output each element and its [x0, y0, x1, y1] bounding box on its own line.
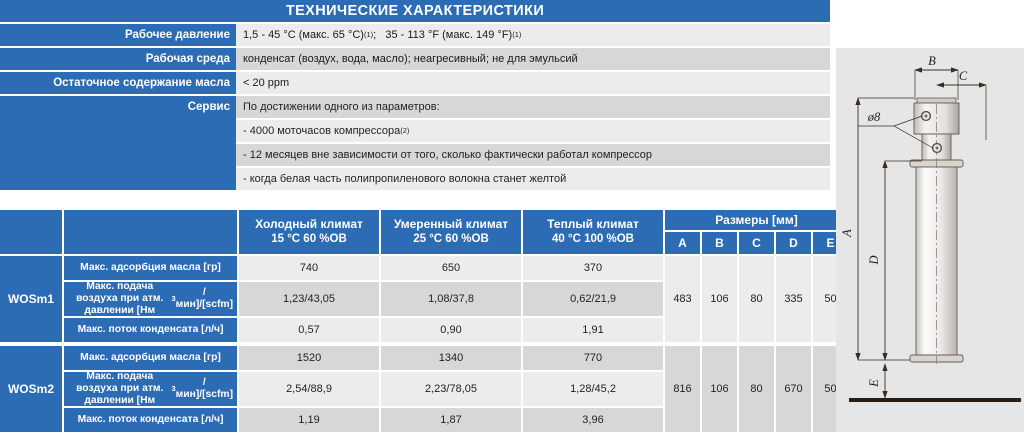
spec-row: Рабочая среда конденсат (воздух, вода, м…	[0, 48, 830, 70]
value-cell: 0,90	[381, 318, 521, 342]
service-line: - когда белая часть полипропиленового во…	[236, 168, 830, 190]
value-cell: 770	[523, 346, 663, 370]
spec-label-service: Сервис	[0, 96, 236, 118]
value-cell: 1,08/37,8	[381, 282, 521, 316]
spec-value-operating-pressure: 1,5 - 45 °C (макс. 65 °C)(1); 35 - 113 °…	[236, 24, 830, 46]
header-dimensions-group: Размеры [мм] A B C D E	[665, 210, 848, 254]
header-corner-blank	[0, 210, 62, 254]
value-cell: 2,54/88,9	[239, 372, 379, 406]
service-block: Сервис По достижении одного из параметро…	[0, 96, 830, 190]
dim-value-b: 106	[702, 346, 737, 432]
header-dim-b: B	[702, 232, 737, 254]
value-cell: 1,91	[523, 318, 663, 342]
spec-label-residual-oil: Остаточное содержание масла	[0, 72, 236, 94]
header-climate-cold-line2: 15 °C 60 %ОВ	[271, 232, 347, 246]
model-label-wosm1: WOSm1	[0, 256, 62, 342]
param-label: Макс. подача воздуха при атм.давлении [Н…	[64, 372, 237, 406]
data-table: Холодный климат 15 °C 60 %ОВ Умеренный к…	[0, 210, 838, 436]
dim-value-d: 670	[776, 346, 811, 432]
table-row: Макс. адсорбция масла [гр] 740 650 370	[64, 256, 663, 280]
group-body-wosm2: Макс. адсорбция масла [гр] 1520 1340 770…	[64, 346, 663, 434]
technical-specification-sheet: ТЕХНИЧЕСКИЕ ХАРАКТЕРИСТИКИ Рабочее давле…	[0, 0, 1024, 432]
value-cell: 1,28/45,2	[523, 372, 663, 406]
header-climate-warm-line2: 40 °C 100 %ОВ	[552, 232, 634, 246]
value-cell: 650	[381, 256, 521, 280]
dim-label-d: D	[867, 255, 881, 265]
header-dim-d: D	[776, 232, 811, 254]
value-cell: 0,62/21,9	[523, 282, 663, 316]
param-label: Макс. поток конденсата [л/ч]	[64, 318, 237, 342]
dim-label-e: E	[867, 379, 881, 388]
dim-value-b: 106	[702, 256, 737, 342]
model-label-wosm2: WOSm2	[0, 346, 62, 432]
param-label: Макс. подача воздуха при атм.давлении [Н…	[64, 282, 237, 316]
table-header-row: Холодный климат 15 °C 60 %ОВ Умеренный к…	[0, 210, 838, 254]
dim-value-a: 816	[665, 346, 700, 432]
spec-label-working-medium: Рабочая среда	[0, 48, 236, 70]
group-body-wosm1: Макс. адсорбция масла [гр] 740 650 370 М…	[64, 256, 663, 344]
spec-value-working-medium: конденсат (воздух, вода, масло); неагрес…	[236, 48, 830, 70]
technical-drawing-panel: B C A D E ø8	[836, 48, 1024, 432]
value-cell: 1340	[381, 346, 521, 370]
spec-value-residual-oil: < 20 ppm	[236, 72, 830, 94]
table-group: WOSm2 Макс. адсорбция масла [гр] 1520 13…	[0, 346, 838, 434]
dim-label-a: A	[840, 229, 854, 238]
value-cell: 1,19	[239, 408, 379, 432]
specifications-block: Рабочее давление 1,5 - 45 °C (макс. 65 °…	[0, 24, 830, 192]
value-cell: 0,57	[239, 318, 379, 342]
spec-label-operating-pressure: Рабочее давление	[0, 24, 236, 46]
header-dim-a: A	[665, 232, 700, 254]
spec-row: Рабочее давление 1,5 - 45 °C (макс. 65 °…	[0, 24, 830, 46]
value-cell: 2,23/78,05	[381, 372, 521, 406]
product-body	[849, 98, 1021, 402]
param-label: Макс. поток конденсата [л/ч]	[64, 408, 237, 432]
dim-value-d: 335	[776, 256, 811, 342]
header-climate-warm: Теплый климат 40 °C 100 %ОВ	[523, 210, 663, 254]
value-cell: 740	[239, 256, 379, 280]
value-cell: 370	[523, 256, 663, 280]
table-group: WOSm1 Макс. адсорбция масла [гр] 740 650…	[0, 256, 838, 344]
page-title: ТЕХНИЧЕСКИЕ ХАРАКТЕРИСТИКИ	[0, 0, 830, 22]
table-row: Макс. поток конденсата [л/ч] 1,19 1,87 3…	[64, 408, 663, 432]
value-cell: 1,23/43,05	[239, 282, 379, 316]
value-cell: 1,87	[381, 408, 521, 432]
dim-value-c: 80	[739, 346, 774, 432]
service-line: - 4000 моточасов компрессора (2)	[236, 120, 830, 142]
service-lines: По достижении одного из параметров: - 40…	[236, 96, 830, 190]
header-climate-moderate-line1: Умеренный климат	[394, 217, 508, 232]
service-line: - 12 месяцев вне зависимости от того, ск…	[236, 144, 830, 166]
header-dimensions-subrow: A B C D E	[665, 232, 848, 254]
table-row: Макс. адсорбция масла [гр] 1520 1340 770	[64, 346, 663, 370]
table-row: Макс. поток конденсата [л/ч] 0,57 0,90 1…	[64, 318, 663, 342]
value-cell: 1520	[239, 346, 379, 370]
header-param-blank	[64, 210, 237, 254]
product-dimension-drawing: B C A D E ø8	[836, 48, 1024, 432]
table-row: Макс. подача воздуха при атм.давлении [Н…	[64, 282, 663, 316]
header-dimensions-title: Размеры [мм]	[665, 210, 848, 230]
header-climate-warm-line1: Теплый климат	[547, 217, 639, 232]
header-dim-c: C	[739, 232, 774, 254]
table-row: Макс. подача воздуха при атм.давлении [Н…	[64, 372, 663, 406]
value-cell: 3,96	[523, 408, 663, 432]
header-climate-cold: Холодный климат 15 °C 60 %ОВ	[239, 210, 379, 254]
header-climate-moderate: Умеренный климат 25 °C 60 %ОВ	[381, 210, 521, 254]
dim-value-c: 80	[739, 256, 774, 342]
dim-label-b: B	[928, 54, 936, 68]
dim-value-a: 483	[665, 256, 700, 342]
dim-label-c: C	[959, 69, 968, 83]
param-label: Макс. адсорбция масла [гр]	[64, 346, 237, 370]
spec-row: Остаточное содержание масла < 20 ppm	[0, 72, 830, 94]
dim-label-bore: ø8	[867, 110, 881, 124]
header-climate-moderate-line2: 25 °C 60 %ОВ	[413, 232, 489, 246]
header-climate-cold-line1: Холодный климат	[255, 217, 363, 232]
service-line: По достижении одного из параметров:	[236, 96, 830, 118]
param-label: Макс. адсорбция масла [гр]	[64, 256, 237, 280]
